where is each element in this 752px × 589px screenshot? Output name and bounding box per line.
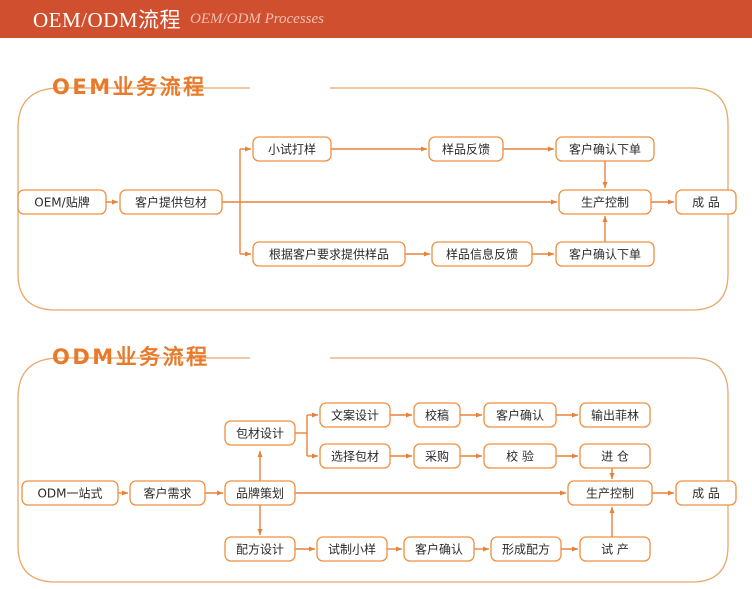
flow-node-odm_form[interactable]: 形成配方 — [491, 537, 561, 561]
flow-node-label: 品牌策划 — [236, 487, 284, 501]
flow-node-oem_trial[interactable]: 小试打样 — [253, 137, 331, 161]
flow-node-oem_prod[interactable]: 生产控制 — [559, 190, 651, 214]
flow-node-oem_fb2[interactable]: 样品信息反馈 — [432, 242, 532, 266]
flow-node-label: 采购 — [425, 449, 449, 464]
flow-node-label: 客户确认下单 — [569, 142, 641, 157]
flow-node-oem_sample[interactable]: 根据客户要求提供样品 — [253, 242, 405, 266]
page-subtitle: OEM/ODM Processes — [190, 11, 324, 28]
flow-node-odm_buy[interactable]: 采购 — [414, 444, 460, 468]
flow-node-label: ODM一站式 — [37, 487, 102, 501]
flow-node-label: 配方设计 — [236, 542, 284, 557]
page-header: OEM/ODM流程 OEM/ODM Processes — [0, 0, 752, 38]
flow-node-label: 生产控制 — [581, 196, 629, 210]
flow-node-label: 客户确认 — [496, 408, 544, 423]
flow-node-label: 客户确认下单 — [569, 247, 641, 262]
flow-node-label: 成 品 — [692, 487, 720, 501]
flow-node-label: 生产控制 — [586, 487, 634, 501]
flow-node-odm_check[interactable]: 校 验 — [484, 444, 556, 468]
flow-node-label: 校 验 — [506, 449, 534, 464]
flow-node-odm_choose[interactable]: 选择包材 — [320, 444, 390, 468]
flow-node-odm_final[interactable]: 成 品 — [676, 481, 736, 505]
flow-node-odm_proof[interactable]: 校稿 — [414, 403, 460, 427]
flow-node-odm_pilot[interactable]: 试 产 — [580, 537, 650, 561]
flow-node-label: OEM/贴牌 — [34, 196, 89, 210]
flow-node-label: 进 仓 — [601, 450, 629, 464]
odm-flow-diagram: ODM一站式客户需求品牌策划包材设计文案设计校稿客户确认输出菲林选择包材采购校 … — [0, 332, 752, 584]
flow-node-label: 客户确认 — [415, 542, 463, 557]
flow-node-odm_formula[interactable]: 配方设计 — [225, 537, 295, 561]
flow-node-label: 试制小样 — [328, 542, 376, 557]
flow-node-label: 选择包材 — [331, 450, 379, 464]
odm-nodes: ODM一站式客户需求品牌策划包材设计文案设计校稿客户确认输出菲林选择包材采购校 … — [22, 403, 736, 561]
flow-node-label: 成 品 — [692, 196, 720, 210]
oem-flow-diagram: OEM/贴牌客户提供包材小试打样样品反馈客户确认下单生产控制成 品根据客户要求提… — [0, 62, 752, 312]
flow-node-label: 客户需求 — [143, 486, 191, 501]
flow-node-odm_store[interactable]: 进 仓 — [580, 444, 650, 468]
flow-node-odm_packdes[interactable]: 包材设计 — [225, 421, 295, 445]
flow-node-label: 文案设计 — [331, 408, 379, 423]
flow-node-odm_prod[interactable]: 生产控制 — [568, 481, 652, 505]
flow-node-odm_try[interactable]: 试制小样 — [317, 537, 387, 561]
flow-node-label: 样品信息反馈 — [446, 247, 518, 262]
flow-node-oem_final[interactable]: 成 品 — [676, 190, 736, 214]
flow-node-odm_start[interactable]: ODM一站式 — [22, 481, 118, 505]
odm-process-section: ODM业务流程 — [0, 332, 752, 584]
flow-node-label: 形成配方 — [502, 542, 550, 557]
flow-node-oem_conf2[interactable]: 客户确认下单 — [556, 242, 654, 266]
flow-node-label: 输出菲林 — [591, 408, 639, 423]
flow-node-odm_conf2[interactable]: 客户确认 — [404, 537, 474, 561]
flow-node-odm_copy[interactable]: 文案设计 — [320, 403, 390, 427]
flow-node-label: 试 产 — [601, 542, 629, 557]
flow-node-odm_brand[interactable]: 品牌策划 — [225, 481, 295, 505]
flow-node-oem_pack[interactable]: 客户提供包材 — [120, 190, 222, 214]
flow-node-oem_conf1[interactable]: 客户确认下单 — [556, 137, 654, 161]
flow-node-label: 校稿 — [425, 408, 449, 423]
flow-node-label: 客户提供包材 — [135, 195, 207, 210]
flow-node-label: 样品反馈 — [442, 142, 490, 157]
oem-process-section: OEM业务流程 — [0, 62, 752, 312]
flow-node-odm_conf1[interactable]: 客户确认 — [484, 403, 556, 427]
flow-node-odm_need[interactable]: 客户需求 — [130, 481, 205, 505]
flow-node-oem_fb1[interactable]: 样品反馈 — [429, 137, 503, 161]
flow-node-odm_film[interactable]: 输出菲林 — [580, 403, 650, 427]
flow-node-label: 小试打样 — [268, 142, 316, 157]
flow-node-oem_start[interactable]: OEM/贴牌 — [18, 190, 106, 214]
page-title: OEM/ODM流程 — [33, 4, 181, 34]
flow-node-label: 根据客户要求提供样品 — [269, 247, 389, 262]
flow-node-label: 包材设计 — [236, 427, 284, 441]
